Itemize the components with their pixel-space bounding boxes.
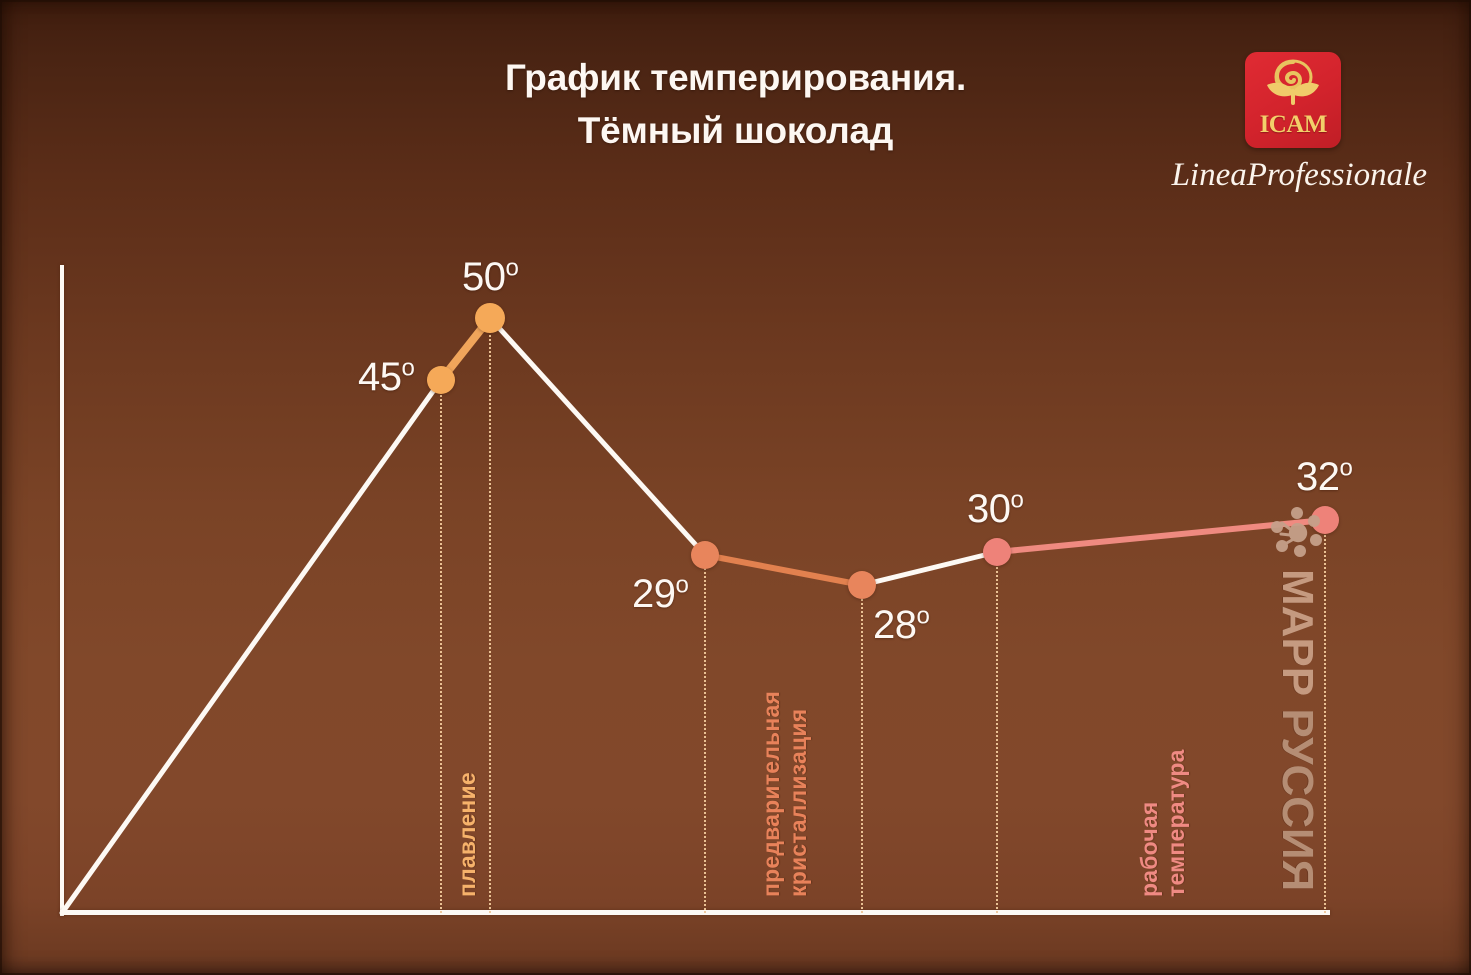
degree-symbol: o: [506, 255, 519, 282]
phase-label-working-temperature: температура: [1164, 749, 1190, 897]
temp-value: 50: [462, 255, 506, 299]
temp-value: 32: [1296, 455, 1340, 499]
phase-label-pre-crystallization: кристаллизация: [786, 709, 812, 897]
brand-tagline: LineaProfessionale: [1172, 157, 1427, 194]
temperature-label: 29o: [632, 572, 688, 617]
degree-symbol: o: [1340, 455, 1353, 482]
degree-symbol: o: [1011, 487, 1024, 514]
temperature-label: 50o: [462, 255, 518, 300]
data-point-marker[interactable]: [427, 366, 455, 394]
brand-logo: ICAM LineaProfessionale: [1166, 52, 1421, 194]
phase-label-working-temperature: рабочая: [1137, 802, 1163, 898]
series-segment: [862, 552, 997, 585]
data-point-marker[interactable]: [691, 541, 719, 569]
data-point-marker[interactable]: [475, 303, 505, 333]
icam-wordmark: ICAM: [1245, 111, 1341, 139]
data-point-marker[interactable]: [983, 538, 1011, 566]
temperature-label: 28o: [873, 603, 929, 648]
temperature-label: 32o: [1296, 455, 1352, 500]
series-segment: [705, 555, 862, 585]
degree-symbol: o: [676, 572, 689, 599]
temperature-label: 45o: [358, 355, 414, 400]
temp-value: 29: [632, 572, 676, 616]
series-segment: [490, 318, 705, 555]
data-point-marker[interactable]: [1311, 506, 1339, 534]
data-point-marker[interactable]: [848, 571, 876, 599]
degree-symbol: o: [917, 603, 930, 630]
title-line-1: График темперирования.: [505, 57, 966, 98]
degree-symbol: o: [402, 355, 415, 382]
temp-value: 30: [967, 487, 1011, 531]
series-segment: [62, 380, 441, 913]
phase-label-pre-crystallization: предварительная: [759, 691, 785, 897]
chart-canvas: График темперирования. Тёмный шоколад IC…: [0, 0, 1471, 975]
temperature-label: 30o: [967, 487, 1023, 532]
temp-value: 28: [873, 603, 917, 647]
icam-logo-mark: ICAM: [1245, 52, 1341, 148]
series-segment: [997, 520, 1325, 552]
phase-label-melting: плавление: [455, 772, 481, 897]
temp-value: 45: [358, 355, 402, 399]
